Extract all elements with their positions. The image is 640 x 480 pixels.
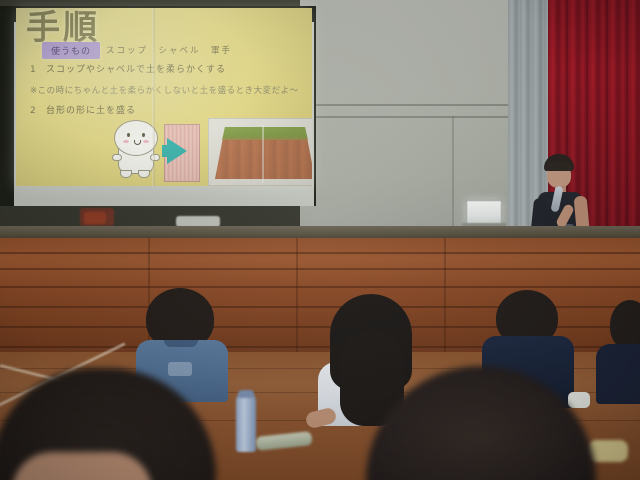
presenter-fringe xyxy=(545,162,573,171)
slide-step-2: 2台形の形に土を盛る xyxy=(30,103,136,116)
mascot-blush-right xyxy=(143,140,149,143)
white-round-mascot-icon xyxy=(112,120,164,182)
slide-note: ※この時にちゃんと土を柔らかくしないと土を盛るとき大変だよ～ xyxy=(30,84,299,96)
mound-photo-crease xyxy=(262,125,264,183)
slide-step-2-text: 台形の形に土を盛る xyxy=(46,106,136,116)
seated-child-partial-right-body xyxy=(596,344,640,404)
mascot-arm-right xyxy=(150,154,160,161)
water-bottle-cap xyxy=(238,390,254,398)
slide-step-1: 1スコップやシャベルで土を柔らかくする xyxy=(30,62,226,75)
mascot-foot-right xyxy=(138,170,150,178)
mascot-head xyxy=(114,120,158,156)
slide-step-1-text: スコップやシャベルで土を柔らかくする xyxy=(46,65,226,75)
mascot-mouth xyxy=(134,140,141,145)
right-arrow-icon xyxy=(167,138,187,164)
slide-step-2-number: 2 xyxy=(30,106,46,116)
mascot-eye-right xyxy=(142,133,145,137)
stage-object-red xyxy=(84,212,106,224)
slide-tag-materials: 使うもの xyxy=(42,42,100,59)
slide-step-1-number: 1 xyxy=(30,65,46,75)
stage-board-line-1 xyxy=(0,252,640,254)
seated-child-sock xyxy=(568,392,590,408)
projected-slide: 手順 使うもの スコップ シャベル 軍手 1スコップやシャベルで土を柔らかくする… xyxy=(16,8,312,186)
seated-child-blue-shirt-print xyxy=(168,362,192,376)
mascot-arm-left xyxy=(112,154,122,161)
stage-board-seam-1 xyxy=(148,238,150,354)
trapezoid-mound-photo xyxy=(208,118,312,186)
stage-board-line-2 xyxy=(0,268,640,270)
slide-tag-items: スコップ シャベル 軍手 xyxy=(106,44,232,56)
foreground-head-left-skin xyxy=(12,452,152,480)
stage-board-line-3 xyxy=(0,286,640,288)
mascot-foot-left xyxy=(120,170,132,178)
seated-child-partial-right-head xyxy=(610,300,640,350)
stage-board-seam-2 xyxy=(296,238,298,354)
wall-seam-vertical xyxy=(452,116,454,232)
gymnasium-presentation-photo: 手順 使うもの スコップ シャベル 軍手 1スコップやシャベルで土を柔らかくする… xyxy=(0,0,640,480)
mascot-blush-left xyxy=(123,140,129,143)
seated-child-blue-shirt-collar xyxy=(164,340,198,347)
mascot-eye-left xyxy=(127,133,130,137)
wall-seam-horizontal-1 xyxy=(300,104,510,106)
water-bottle-thermos xyxy=(236,394,256,452)
stage-board-seam-3 xyxy=(444,238,446,354)
wall-seam-horizontal-2 xyxy=(300,116,510,118)
